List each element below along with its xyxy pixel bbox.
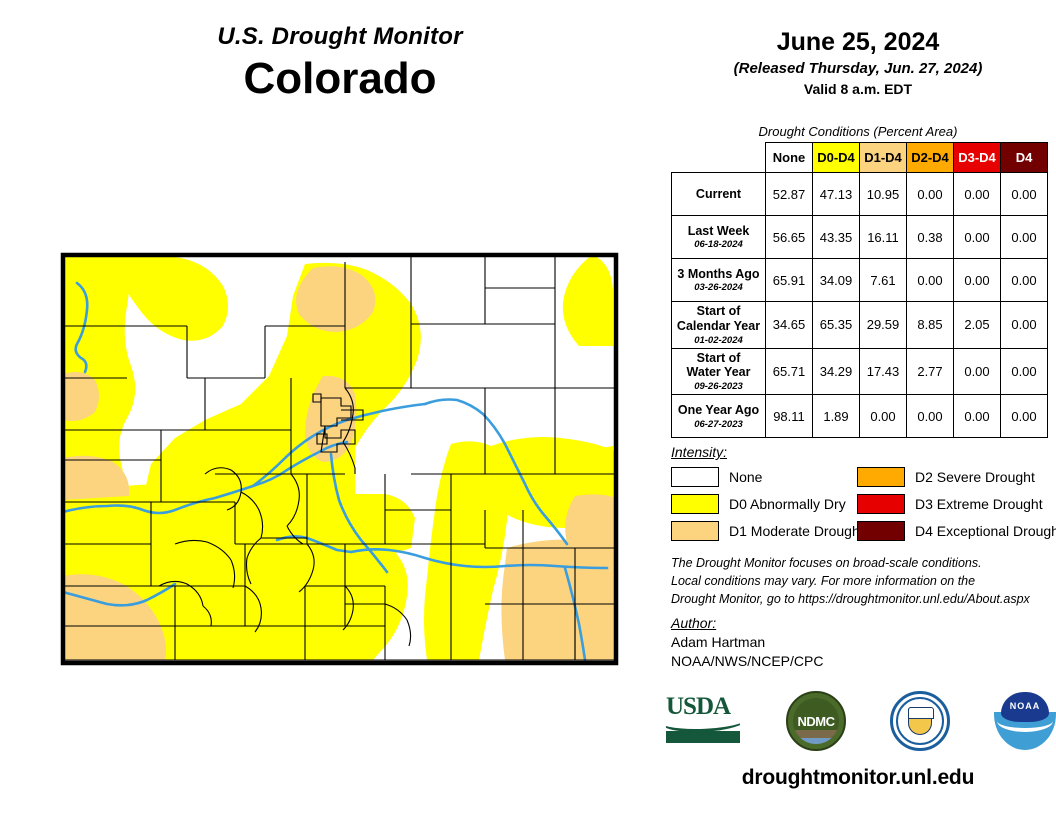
legend-label: None (729, 469, 762, 485)
noaa-bird-icon (997, 710, 1053, 732)
table-cell-d0-d4: 47.13 (813, 173, 860, 216)
table-cell-d4: 0.00 (1001, 173, 1048, 216)
table-cell-d2-d4: 8.85 (907, 302, 954, 349)
table-row-label: 3 Months Ago03-26-2024 (672, 259, 766, 302)
usda-logo-text: USDA (666, 694, 742, 719)
table-cell-d4: 0.00 (1001, 395, 1048, 438)
legend-swatch-icon (857, 521, 905, 541)
legend-swatch-icon (671, 521, 719, 541)
table-cell-d4: 0.00 (1001, 348, 1048, 395)
d1-region-southeast-upper (565, 494, 616, 550)
legend-grid: NoneD2 Severe DroughtD0 Abnormally DryD3… (671, 467, 1056, 541)
table-cell-d3-d4: 0.00 (954, 173, 1001, 216)
legend-item: D2 Severe Drought (857, 467, 1056, 487)
table-row-date: 01-02-2024 (674, 335, 763, 346)
table-cell-d4: 0.00 (1001, 216, 1048, 259)
table-header-row: NoneD0-D4D1-D4D2-D4D3-D4D4 (672, 143, 1048, 173)
noaa-logo-text: NOAA (994, 701, 1056, 711)
release-date: (Released Thursday, Jun. 27, 2024) (660, 60, 1056, 77)
logo-row: USDA NDMC NOAA (666, 688, 1056, 754)
table-cell-d0-d4: 34.29 (813, 348, 860, 395)
legend-item: None (671, 467, 857, 487)
table-header: NoneD0-D4D1-D4D2-D4D3-D4D4 (672, 143, 1048, 173)
table-cell-d2-d4: 0.38 (907, 216, 954, 259)
table-body: Current52.8747.1310.950.000.000.00Last W… (672, 173, 1048, 438)
table-cell-d1-d4: 10.95 (860, 173, 907, 216)
legend-item: D0 Abnormally Dry (671, 494, 857, 514)
table-cell-none: 52.87 (766, 173, 813, 216)
title-block: U.S. Drought Monitor Colorado (60, 24, 620, 105)
table-col-header-none: None (766, 143, 813, 173)
ndmc-water-icon (793, 738, 839, 744)
legend-swatch-icon (857, 494, 905, 514)
table-row-date: 06-18-2024 (674, 239, 763, 250)
table-row-label: Start ofCalendar Year01-02-2024 (672, 302, 766, 349)
table-row-label: Current (672, 173, 766, 216)
table-cell-d4: 0.00 (1001, 302, 1048, 349)
table-row-date: 09-26-2023 (674, 381, 763, 392)
table-col-header-d1-d4: D1-D4 (860, 143, 907, 173)
table-caption: Drought Conditions (Percent Area) (660, 124, 1056, 139)
legend-label: D3 Extreme Drought (915, 496, 1043, 512)
nws-shield-icon (908, 707, 932, 735)
table-corner-cell (672, 143, 766, 173)
usda-logo[interactable]: USDA (666, 694, 742, 748)
table-cell-d1-d4: 29.59 (860, 302, 907, 349)
ndmc-logo-inner: NDMC (793, 698, 839, 744)
legend-label: D0 Abnormally Dry (729, 496, 846, 512)
table-row: Start ofWater Year09-26-202365.7134.2917… (672, 348, 1048, 395)
program-title: U.S. Drought Monitor (60, 24, 620, 50)
table-col-header-d2-d4: D2-D4 (907, 143, 954, 173)
table-cell-none: 65.71 (766, 348, 813, 395)
notes-line-1: The Drought Monitor focuses on broad-sca… (671, 555, 1056, 573)
table-col-header-d4: D4 (1001, 143, 1048, 173)
colorado-drought-map[interactable] (55, 248, 627, 672)
table-row-date: 06-27-2023 (674, 419, 763, 430)
table-row: Start ofCalendar Year01-02-202434.6565.3… (672, 302, 1048, 349)
drought-monitor-page: U.S. Drought Monitor Colorado June 25, 2… (0, 0, 1056, 816)
legend-label: D2 Severe Drought (915, 469, 1035, 485)
author-name: Adam Hartman (671, 634, 1056, 650)
table-cell-d3-d4: 0.00 (954, 259, 1001, 302)
legend-item: D1 Moderate Drought (671, 521, 857, 541)
table-cell-d0-d4: 34.09 (813, 259, 860, 302)
notes-line-2: Local conditions may vary. For more info… (671, 573, 1056, 591)
table-cell-d3-d4: 0.00 (954, 395, 1001, 438)
table-row-label: One Year Ago06-27-2023 (672, 395, 766, 438)
legend-swatch-icon (857, 467, 905, 487)
table-cell-none: 98.11 (766, 395, 813, 438)
drought-conditions-table: NoneD0-D4D1-D4D2-D4D3-D4D4 Current52.874… (671, 142, 1048, 438)
table-cell-none: 65.91 (766, 259, 813, 302)
state-title: Colorado (60, 54, 620, 105)
ndmc-logo-text: NDMC (798, 714, 835, 729)
table-cell-d3-d4: 2.05 (954, 302, 1001, 349)
table-row-label: Last Week06-18-2024 (672, 216, 766, 259)
legend-swatch-icon (671, 467, 719, 487)
legend-swatch-icon (671, 494, 719, 514)
ndmc-logo[interactable]: NDMC (786, 691, 846, 751)
notes-line-3: Drought Monitor, go to https://droughtmo… (671, 591, 1056, 609)
table-cell-d0-d4: 1.89 (813, 395, 860, 438)
table-cell-d2-d4: 2.77 (907, 348, 954, 395)
noaa-logo[interactable]: NOAA (994, 692, 1056, 750)
table-row-date: 03-26-2024 (674, 282, 763, 293)
table-cell-d2-d4: 0.00 (907, 259, 954, 302)
intensity-legend: Intensity: NoneD2 Severe DroughtD0 Abnor… (671, 444, 1056, 541)
legend-item: D4 Exceptional Drought (857, 521, 1056, 541)
valid-time: Valid 8 a.m. EDT (660, 81, 1056, 97)
author-block: Author: Adam Hartman NOAA/NWS/NCEP/CPC (671, 615, 1056, 669)
table-cell-d2-d4: 0.00 (907, 173, 954, 216)
table-cell-d1-d4: 16.11 (860, 216, 907, 259)
table-cell-d0-d4: 43.35 (813, 216, 860, 259)
table-cell-none: 56.65 (766, 216, 813, 259)
legend-label: D4 Exceptional Drought (915, 523, 1056, 539)
date-header: June 25, 2024 (Released Thursday, Jun. 2… (660, 28, 1056, 97)
table-col-header-d0-d4: D0-D4 (813, 143, 860, 173)
site-url[interactable]: droughtmonitor.unl.edu (660, 766, 1056, 790)
table-row: 3 Months Ago03-26-202465.9134.097.610.00… (672, 259, 1048, 302)
table-cell-d1-d4: 17.43 (860, 348, 907, 395)
table-cell-none: 34.65 (766, 302, 813, 349)
table-row: Last Week06-18-202456.6543.3516.110.380.… (672, 216, 1048, 259)
table-cell-d2-d4: 0.00 (907, 395, 954, 438)
map-svg (55, 248, 627, 672)
legend-label: D1 Moderate Drought (729, 523, 864, 539)
d1-region-southeast (501, 540, 616, 660)
usda-swoosh-icon (666, 721, 740, 743)
table-cell-d3-d4: 0.00 (954, 348, 1001, 395)
legend-item: D3 Extreme Drought (857, 494, 1056, 514)
table-cell-d0-d4: 65.35 (813, 302, 860, 349)
intensity-legend-title: Intensity: (671, 444, 1056, 460)
nws-logo[interactable] (890, 691, 950, 751)
table-row: One Year Ago06-27-202398.111.890.000.000… (672, 395, 1048, 438)
table-col-header-d3-d4: D3-D4 (954, 143, 1001, 173)
table-row: Current52.8747.1310.950.000.000.00 (672, 173, 1048, 216)
table-cell-d3-d4: 0.00 (954, 216, 1001, 259)
table-row-label: Start ofWater Year09-26-2023 (672, 348, 766, 395)
author-label: Author: (671, 615, 1056, 631)
table-cell-d1-d4: 7.61 (860, 259, 907, 302)
disclaimer-notes: The Drought Monitor focuses on broad-sca… (671, 555, 1056, 608)
table-cell-d1-d4: 0.00 (860, 395, 907, 438)
valid-date: June 25, 2024 (660, 28, 1056, 57)
table-cell-d4: 0.00 (1001, 259, 1048, 302)
author-organization: NOAA/NWS/NCEP/CPC (671, 653, 1056, 669)
